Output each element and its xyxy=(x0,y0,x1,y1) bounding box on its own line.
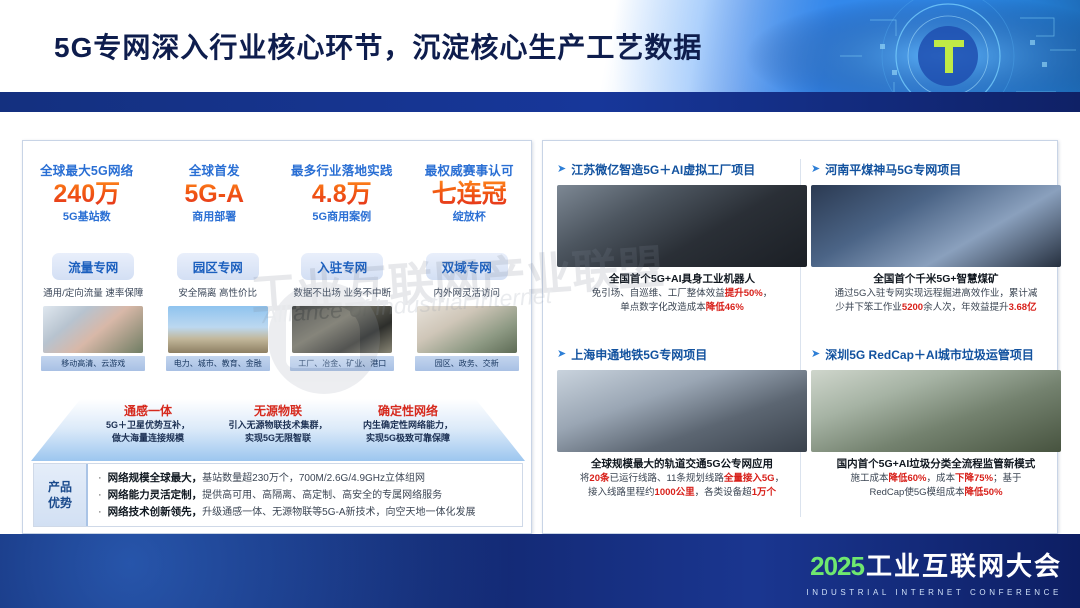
slide-footer: 2025 工业互联网大会 INDUSTRIAL INTERNET CONFERE… xyxy=(0,534,1080,608)
chevron-right-icon: ➤ xyxy=(557,164,566,175)
network-type-card: 入驻专网 数据不出场 业务不中断 工厂、冶金、矿业、港口 xyxy=(284,253,401,371)
chevron-right-icon: ➤ xyxy=(811,164,820,175)
advantage-rest: 升级通感一体、无源物联等5G-A新技术，向空天地一体化发展 xyxy=(202,504,475,521)
conference-name-cn: 工业互联网大会 xyxy=(866,546,1062,583)
capability-line1: 5G＋卫星优势互补， xyxy=(83,419,213,432)
case-body-line2: RedCap使5G模组成本降低50% xyxy=(811,486,1061,500)
network-caption: 工厂、冶金、矿业、港口 xyxy=(290,356,394,371)
advantage-bold: 网络技术创新领先， xyxy=(108,504,203,521)
bullet-icon: · xyxy=(98,470,102,487)
case-text: 接入线路里程约 xyxy=(588,487,655,498)
case-highlight: 1000公里 xyxy=(655,487,695,498)
case-text: ，成本 xyxy=(926,473,955,484)
stat-label: 全球首发 xyxy=(151,163,279,179)
case-body-line1: 免引场、自巡维、工厂整体效益提升50%， xyxy=(557,287,807,301)
case-highlight: 降低60% xyxy=(888,473,926,484)
advantage-item: · 网络技术创新领先， 升级通感一体、无源物联等5G-A新技术，向空天地一体化发… xyxy=(98,504,516,521)
advantage-item: · 网络规模全球最大， 基站数量超230万个，700M/2.6G/4.9GHz立… xyxy=(98,470,516,487)
case-text: 免引场、自巡维、工厂整体效益 xyxy=(592,288,725,299)
network-caption: 园区、政务、交新 xyxy=(415,356,519,371)
case-highlight-2: 1万个 xyxy=(752,487,776,498)
network-badge: 园区专网 xyxy=(177,253,259,280)
page-title: 5G专网深入行业核心环节，沉淀核心生产工艺数据 xyxy=(54,26,702,66)
network-photo xyxy=(417,306,517,353)
capability-line2: 做大海量连接规模 xyxy=(83,432,213,445)
case-headline: 国内首个5G+AI垃圾分类全流程监管新模式 xyxy=(811,457,1061,472)
bullet-icon: · xyxy=(98,504,102,521)
case-highlight: 降低46% xyxy=(706,302,744,313)
case-highlight: 5200 xyxy=(902,302,923,313)
advantage-rest: 基站数量超230万个，700M/2.6G/4.9GHz立体组网 xyxy=(202,470,425,487)
stat-card: 最多行业落地实践 4.8万 5G商用案例 xyxy=(278,163,406,225)
stat-card: 全球最大5G网络 240万 5G基站数 xyxy=(23,163,151,225)
advantage-rest: 提供高可用、高隔离、高定制、高安全的专属网络服务 xyxy=(202,487,442,504)
conference-logo: 2025 工业互联网大会 INDUSTRIAL INTERNET CONFERE… xyxy=(806,546,1062,597)
case-title: 河南平煤神马5G专网项目 xyxy=(825,161,961,178)
bullet-icon: · xyxy=(98,487,102,504)
case-text: 少井下笨工作业 xyxy=(835,302,902,313)
capability-title: 确定性网络 xyxy=(343,403,473,419)
advantage-item: · 网络能力灵活定制， 提供高可用、高隔离、高定制、高安全的专属网络服务 xyxy=(98,487,516,504)
product-advantages-box: 产品 优势 · 网络规模全球最大， 基站数量超230万个，700M/2.6G/4… xyxy=(33,463,523,527)
advantages-list: · 网络规模全球最大， 基站数量超230万个，700M/2.6G/4.9GHz立… xyxy=(88,464,522,526)
network-caption: 移动高清、云游戏 xyxy=(41,356,145,371)
case-title: 深圳5G RedCap＋AI城市垃圾运管项目 xyxy=(825,346,1034,363)
capability-line2: 实现5G极致可靠保障 xyxy=(343,432,473,445)
case-study-card: ➤ 江苏微亿智造5G＋AI虚拟工厂项目 全国首个5G+AI具身工业机器人 免引场… xyxy=(557,161,807,315)
stat-value: 5G-A xyxy=(151,179,279,210)
chevron-right-icon: ➤ xyxy=(811,349,820,360)
network-badge: 入驻专网 xyxy=(301,253,383,280)
case-text: 已运行线路、11条规划线路 xyxy=(610,473,724,484)
stat-label: 最权威赛事认可 xyxy=(406,163,534,179)
case-headline: 全国首个千米5G+智慧煤矿 xyxy=(811,272,1061,287)
case-study-card: ➤ 深圳5G RedCap＋AI城市垃圾运管项目 国内首个5G+AI垃圾分类全流… xyxy=(811,346,1061,500)
capability-line1: 内生确定性网络能力， xyxy=(343,419,473,432)
network-desc: 通用/定向流量 速率保障 xyxy=(35,287,152,300)
case-text: 余人次，年效益提升 xyxy=(923,302,1009,313)
network-type-card: 流量专网 通用/定向流量 速率保障 移动高清、云游戏 xyxy=(35,253,152,371)
advantages-tag: 产品 优势 xyxy=(34,464,88,526)
case-text: ， xyxy=(763,288,773,299)
case-body-line2: 单点数字化改造成本降低46% xyxy=(557,301,807,315)
case-highlight: 降低50% xyxy=(965,487,1003,498)
network-type-card: 双域专网 内外网灵活访问 园区、政务、交新 xyxy=(409,253,526,371)
case-photo xyxy=(557,185,807,267)
case-photo xyxy=(811,185,1061,267)
slide-root: 5G专网深入行业核心环节，沉淀核心生产工艺数据 全球最大5G网络 240万 5G… xyxy=(0,0,1080,608)
case-highlight-2: 下降75% xyxy=(955,473,993,484)
case-body-line2: 少井下笨工作业5200余人次，年效益提升3.68亿 xyxy=(811,301,1061,315)
case-body-line2: 接入线路里程约1000公里，各类设备超1万个 xyxy=(557,486,807,500)
left-panel-5g-network-overview: 全球最大5G网络 240万 5G基站数 全球首发 5G-A 商用部署 最多行业落… xyxy=(22,140,532,534)
network-badge: 流量专网 xyxy=(52,253,134,280)
network-photo xyxy=(292,306,392,353)
network-types-row: 流量专网 通用/定向流量 速率保障 移动高清、云游戏 园区专网 安全隔离 高性价… xyxy=(35,253,525,371)
header-bottom-bar xyxy=(0,92,1080,112)
stats-row: 全球最大5G网络 240万 5G基站数 全球首发 5G-A 商用部署 最多行业落… xyxy=(23,163,533,225)
case-text: ；基于 xyxy=(993,473,1022,484)
case-text: 将 xyxy=(580,473,590,484)
right-panel-case-studies: ➤ 江苏微亿智造5G＋AI虚拟工厂项目 全国首个5G+AI具身工业机器人 免引场… xyxy=(542,140,1058,534)
case-highlight: 20条 xyxy=(589,473,609,484)
network-photo xyxy=(43,306,143,353)
case-text: 单点数字化改造成本 xyxy=(620,302,706,313)
conference-name-en: INDUSTRIAL INTERNET CONFERENCE xyxy=(806,588,1062,597)
slide-header: 5G专网深入行业核心环节，沉淀核心生产工艺数据 xyxy=(0,0,1080,112)
network-caption: 电力、城市、教育、金融 xyxy=(166,356,270,371)
stat-label: 全球最大5G网络 xyxy=(23,163,151,179)
stat-sublabel: 5G基站数 xyxy=(23,210,151,225)
stat-label: 最多行业落地实践 xyxy=(278,163,406,179)
case-text: RedCap使5G模组成本 xyxy=(869,487,964,498)
capability-item: 通感一体 5G＋卫星优势互补， 做大海量连接规模 xyxy=(83,403,213,445)
case-title-row: ➤ 河南平煤神马5G专网项目 xyxy=(811,161,1061,178)
capability-title: 无源物联 xyxy=(213,403,343,419)
conference-logo-main: 2025 工业互联网大会 xyxy=(806,546,1062,583)
case-text: ，各类设备超 xyxy=(695,487,752,498)
case-body-line1: 施工成本降低60%，成本下降75%；基于 xyxy=(811,472,1061,486)
case-headline: 全国首个5G+AI具身工业机器人 xyxy=(557,272,807,287)
case-photo xyxy=(557,370,807,452)
case-highlight: 提升50% xyxy=(725,288,763,299)
case-photo xyxy=(811,370,1061,452)
chevron-right-icon: ➤ xyxy=(557,349,566,360)
stat-value: 4.8万 xyxy=(278,179,406,210)
network-desc: 安全隔离 高性价比 xyxy=(160,287,277,300)
case-headline: 全球规模最大的轨道交通5G公专网应用 xyxy=(557,457,807,472)
case-study-card: ➤ 河南平煤神马5G专网项目 全国首个千米5G+智慧煤矿 通过5G入驻专网实现远… xyxy=(811,161,1061,315)
stat-sublabel: 绽放杯 xyxy=(406,210,534,225)
stat-card: 最权威赛事认可 七连冠 绽放杯 xyxy=(406,163,534,225)
conference-year: 2025 xyxy=(810,551,864,582)
case-text: 施工成本 xyxy=(850,473,888,484)
case-title-row: ➤ 上海申通地铁5G专网项目 xyxy=(557,346,807,363)
case-text: ， xyxy=(775,473,785,484)
case-study-card: ➤ 上海申通地铁5G专网项目 全球规模最大的轨道交通5G公专网应用 将20条已运… xyxy=(557,346,807,500)
network-badge: 双域专网 xyxy=(426,253,508,280)
case-text: 通过5G入驻专网实现远程掘进高效作业，累计减 xyxy=(835,288,1038,299)
advantage-bold: 网络能力灵活定制， xyxy=(108,487,203,504)
advantages-tag-line2: 优势 xyxy=(48,495,72,511)
case-title: 江苏微亿智造5G＋AI虚拟工厂项目 xyxy=(571,161,755,178)
capability-line1: 引入无源物联技术集群， xyxy=(213,419,343,432)
case-title-row: ➤ 江苏微亿智造5G＋AI虚拟工厂项目 xyxy=(557,161,807,178)
case-highlight-2: 全量接入5G xyxy=(724,473,775,484)
case-body-line1: 将20条已运行线路、11条规划线路全量接入5G， xyxy=(557,472,807,486)
stat-value: 240万 xyxy=(23,179,151,210)
network-desc: 数据不出场 业务不中断 xyxy=(284,287,401,300)
stat-sublabel: 商用部署 xyxy=(151,210,279,225)
case-body-line1: 通过5G入驻专网实现远程掘进高效作业，累计减 xyxy=(811,287,1061,301)
stat-card: 全球首发 5G-A 商用部署 xyxy=(151,163,279,225)
advantage-bold: 网络规模全球最大， xyxy=(108,470,203,487)
case-title-row: ➤ 深圳5G RedCap＋AI城市垃圾运管项目 xyxy=(811,346,1061,363)
case-highlight-2: 3.68亿 xyxy=(1009,302,1037,313)
stat-value: 七连冠 xyxy=(406,179,534,210)
capability-band: 通感一体 5G＋卫星优势互补， 做大海量连接规模 无源物联 引入无源物联技术集群… xyxy=(83,403,473,445)
capability-title: 通感一体 xyxy=(83,403,213,419)
advantages-tag-line1: 产品 xyxy=(48,479,72,495)
network-desc: 内外网灵活访问 xyxy=(409,287,526,300)
stat-sublabel: 5G商用案例 xyxy=(278,210,406,225)
capability-item: 确定性网络 内生确定性网络能力， 实现5G极致可靠保障 xyxy=(343,403,473,445)
capability-line2: 实现5G无限智联 xyxy=(213,432,343,445)
capability-item: 无源物联 引入无源物联技术集群， 实现5G无限智联 xyxy=(213,403,343,445)
network-type-card: 园区专网 安全隔离 高性价比 电力、城市、教育、金融 xyxy=(160,253,277,371)
case-title: 上海申通地铁5G专网项目 xyxy=(571,346,707,363)
network-photo xyxy=(168,306,268,353)
